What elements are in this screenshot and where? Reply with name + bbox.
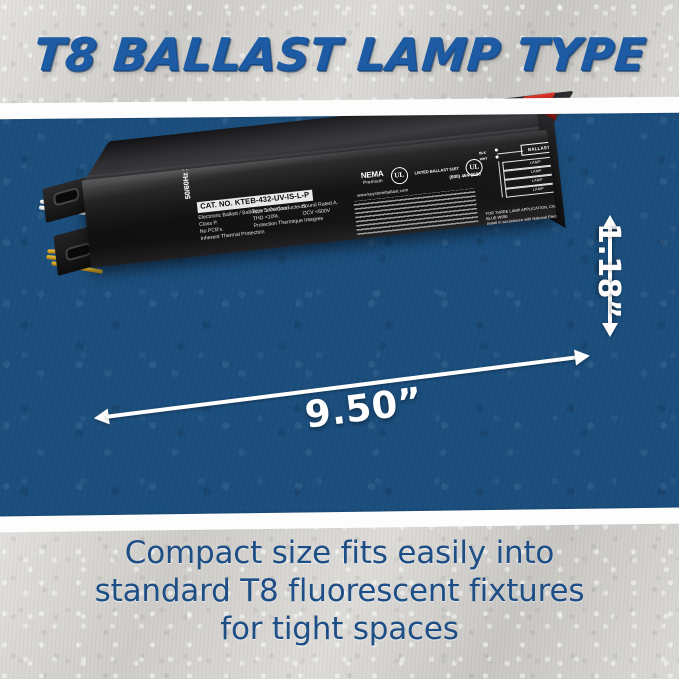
arrow-right-icon [574,348,591,366]
label-spec-block: CAT. NO. KTEB-432-UV-IS-L-P Electronic B… [196,177,380,243]
caption-line-2: standard T8 fluorescent fixtures [0,572,679,610]
ul-mark-icon: UL [390,166,409,185]
terminal-label-wht: WHT [480,157,488,162]
wiring-terminal-dot [495,148,498,151]
arrow-down-icon [602,323,618,337]
dimension-height-label: 1.18” [591,223,626,319]
nema-premium-logo: NEMA Premium [360,170,384,185]
wiring-terminal-dot [495,155,498,158]
label-wiring-diagram: BALLAST BLK WHT BLU RED LAMP LAMP LAMP L… [478,135,556,209]
footer-caption: Compact size fits easily into standard T… [0,534,679,648]
dimension-height-callout: 1.18” [596,215,672,337]
page-title-container: T8 BALLAST LAMP TYPE [0,18,679,90]
page-title: T8 BALLAST LAMP TYPE [32,32,648,77]
wiring-bus-top-left [497,151,523,155]
infographic-stage: T8 BALLAST LAMP TYPE 50/60Hz 120V/0.82A … [0,0,679,679]
caption-line-3: for tight spaces [0,610,679,648]
terminal-label-blk: BLK [479,151,486,156]
caption-line-1: Compact size fits easily into [0,534,679,572]
